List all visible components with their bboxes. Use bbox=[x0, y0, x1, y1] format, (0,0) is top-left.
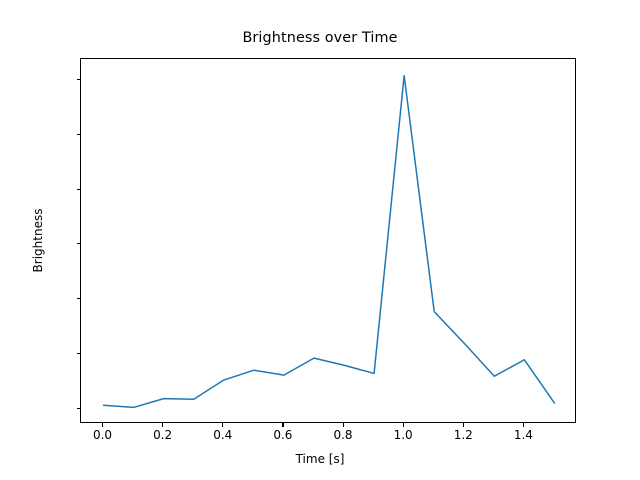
x-tick-label: 0.2 bbox=[153, 428, 172, 442]
x-tick-label: 1.4 bbox=[514, 428, 533, 442]
x-axis-label: Time [s] bbox=[0, 452, 640, 466]
x-tick-label: 0.8 bbox=[333, 428, 352, 442]
x-tick-label: 0.6 bbox=[273, 428, 292, 442]
x-tick-label: 0.4 bbox=[213, 428, 232, 442]
figure-canvas: Brightness over Time 0100200300400500600… bbox=[0, 0, 640, 480]
y-axis-label: Brightness bbox=[31, 58, 49, 423]
x-tick-label: 1.0 bbox=[394, 428, 413, 442]
x-tick-label: 0.0 bbox=[93, 428, 112, 442]
x-tick-label: 1.2 bbox=[454, 428, 473, 442]
chart-title: Brightness over Time bbox=[0, 30, 640, 46]
series-line-brightness bbox=[104, 76, 555, 408]
line-plot-svg bbox=[81, 59, 577, 424]
plot-axes bbox=[80, 58, 576, 423]
